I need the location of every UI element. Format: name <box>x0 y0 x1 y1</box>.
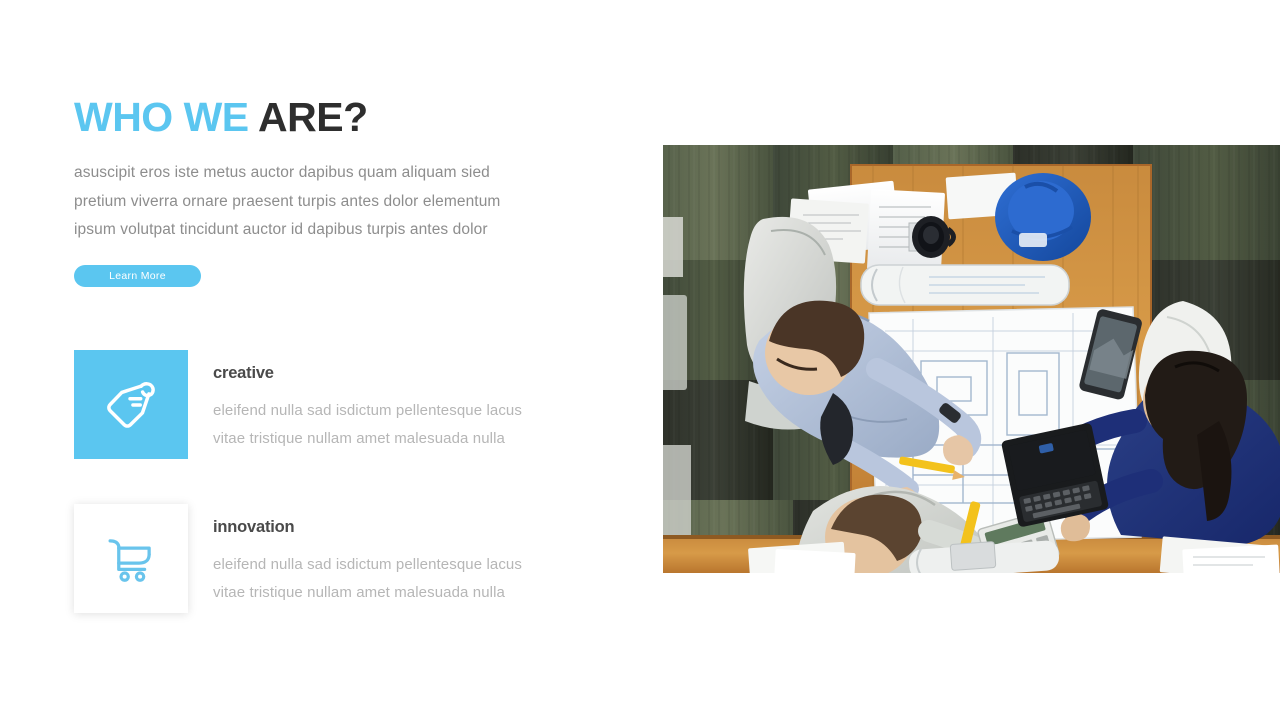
price-tag-icon-glyph <box>100 374 162 436</box>
team-photo-illustration <box>663 145 1280 573</box>
feature-desc-line-1: eleifend nulla sad isdictum pellentesque… <box>213 397 522 425</box>
intro-line-1: asuscipit eros iste metus auctor dapibus… <box>74 159 599 188</box>
feature-text-innovation: innovation eleifend nulla sad isdictum p… <box>188 504 522 607</box>
shopping-cart-icon-glyph <box>102 530 160 588</box>
price-tag-icon <box>74 350 188 459</box>
intro-line-2: pretium viverra ornare praesent turpis a… <box>74 188 599 217</box>
intro-paragraph: asuscipit eros iste metus auctor dapibus… <box>74 159 599 245</box>
feature-title: innovation <box>213 518 522 537</box>
feature-desc-line-1: eleifend nulla sad isdictum pellentesque… <box>213 551 522 579</box>
feature-item-innovation[interactable]: innovation eleifend nulla sad isdictum p… <box>74 504 634 613</box>
feature-desc-line-2: vitae tristique nullam amet malesuada nu… <box>213 579 522 607</box>
feature-list: creative eleifend nulla sad isdictum pel… <box>74 350 634 613</box>
page-title-accent: WHO WE <box>74 94 258 140</box>
shopping-cart-icon <box>74 504 188 613</box>
page-title-main: ARE? <box>258 94 368 140</box>
intro-block: WHO WE ARE? asuscipit eros iste metus au… <box>74 96 614 287</box>
team-photo <box>663 145 1280 573</box>
feature-description: eleifend nulla sad isdictum pellentesque… <box>213 551 522 607</box>
feature-desc-line-2: vitae tristique nullam amet malesuada nu… <box>213 425 522 453</box>
page-title: WHO WE ARE? <box>74 96 614 139</box>
feature-text-creative: creative eleifend nulla sad isdictum pel… <box>188 350 522 453</box>
learn-more-button[interactable]: Learn More <box>74 265 201 287</box>
feature-description: eleifend nulla sad isdictum pellentesque… <box>213 397 522 453</box>
feature-item-creative[interactable]: creative eleifend nulla sad isdictum pel… <box>74 350 634 459</box>
intro-line-3: ipsum volutpat tincidunt auctor id dapib… <box>74 216 599 245</box>
feature-title: creative <box>213 364 522 383</box>
